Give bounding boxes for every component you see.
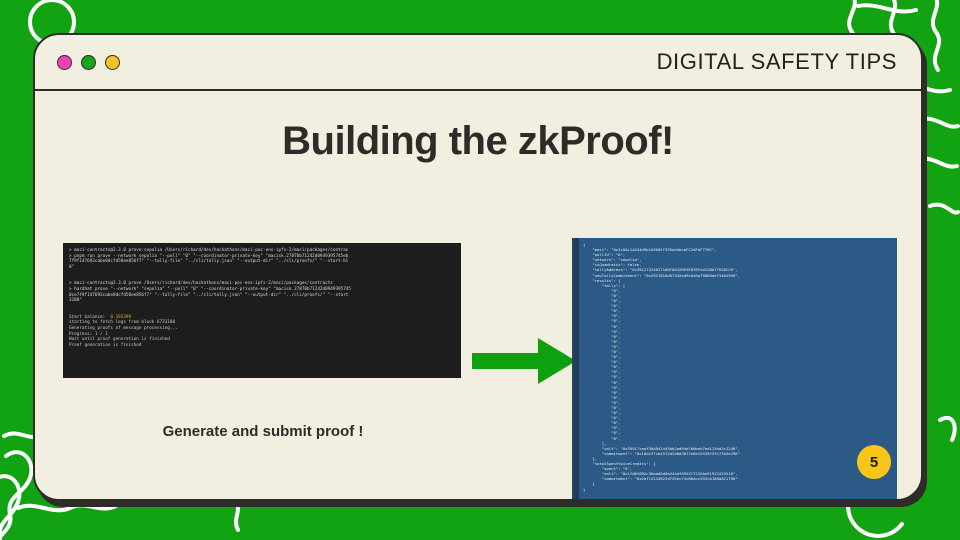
json-line: } xyxy=(583,487,891,492)
window-controls xyxy=(57,55,120,70)
brand-title: DIGITAL SAFETY TIPS xyxy=(657,49,897,75)
slide-body: Building the zkProof! > maci-contracts@2… xyxy=(35,91,921,501)
json-output-panel: { "maci": "0x2c0Ac1a244d9b1d3602f335ed4b… xyxy=(572,238,897,501)
terminal-panel: > maci-contracts@2.3.0 prove:sepolia /Us… xyxy=(63,243,461,378)
terminal-spacer xyxy=(69,304,457,315)
terminal-balance-label: Start balance: xyxy=(69,315,110,320)
terminal-block-1: > maci-contracts@2.3.0 prove:sepolia /Us… xyxy=(69,248,457,270)
page-number-badge: 5 xyxy=(857,445,891,479)
terminal-block-2: > maci-contracts@2.3.0 prove /Users/rich… xyxy=(69,281,457,303)
caption-text: Generate and submit proof ! xyxy=(63,423,463,440)
terminal-block-3: Start balance: 0.192399 starting to fetc… xyxy=(69,315,457,349)
maximize-dot[interactable] xyxy=(105,55,120,70)
terminal-line: Proof generation is finished xyxy=(69,343,457,349)
terminal-spacer xyxy=(69,270,457,281)
page-title: Building the zkProof! xyxy=(35,91,921,164)
slide-card: DIGITAL SAFETY TIPS Building the zkProof… xyxy=(33,33,923,501)
terminal-balance-value: 0.192399 xyxy=(110,315,131,320)
minimize-dot[interactable] xyxy=(81,55,96,70)
close-dot[interactable] xyxy=(57,55,72,70)
panel-left-edge xyxy=(575,238,579,501)
json-lines: { "maci": "0x2c0Ac1a244d9b1d3602f335ed4b… xyxy=(583,242,891,492)
flow-arrow-icon xyxy=(472,338,576,389)
window-titlebar: DIGITAL SAFETY TIPS xyxy=(35,35,921,91)
